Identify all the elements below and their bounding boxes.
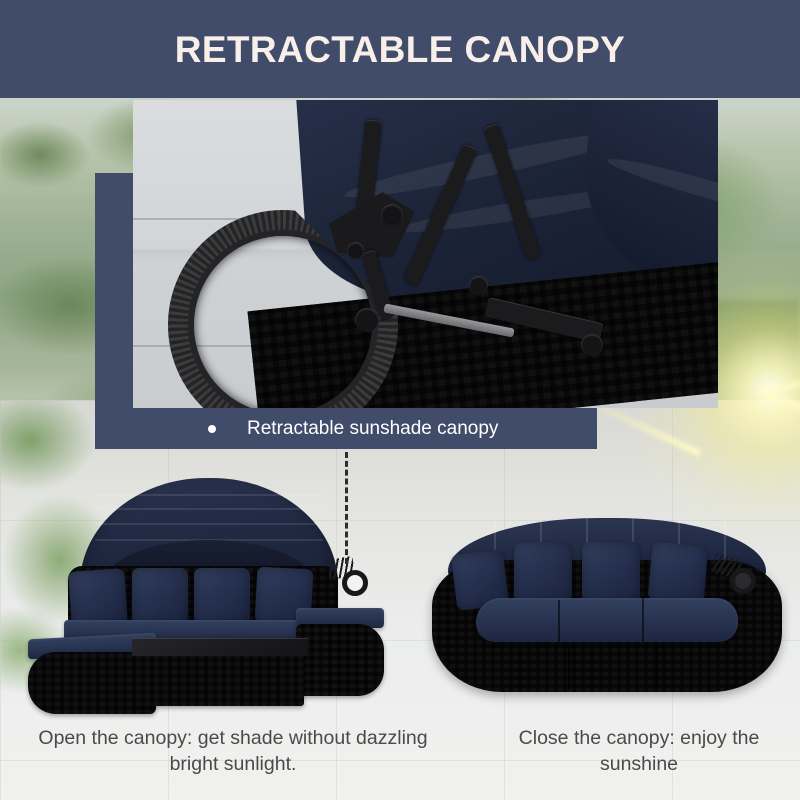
canopy-crank-handle <box>342 570 368 596</box>
fabric-fold <box>605 152 718 224</box>
daybed-mattress <box>476 598 738 642</box>
throw-pillow <box>132 568 188 624</box>
shell-seam <box>568 644 570 690</box>
shell-seam <box>656 644 658 690</box>
page-title: RETRACTABLE CANOPY <box>175 31 626 68</box>
hinge-bolt <box>469 276 488 295</box>
product-photo-closed-canopy <box>418 498 800 723</box>
throw-pillow <box>514 542 572 602</box>
pivot-joint <box>355 308 379 332</box>
header-banner: RETRACTABLE CANOPY <box>0 0 800 98</box>
throw-pillow <box>582 542 640 602</box>
hinge-bolt <box>347 242 364 259</box>
throw-pillow <box>194 568 250 624</box>
throw-pillow <box>68 568 128 628</box>
cushion-seam <box>642 598 644 642</box>
caption-closed-canopy: Close the canopy: enjoy the sunshine <box>480 726 798 777</box>
canopy-hinge-detail-photo <box>133 100 718 408</box>
coffee-table-glass-top <box>132 638 308 656</box>
dashed-pointer-line <box>345 452 348 564</box>
pivot-joint <box>581 334 603 356</box>
product-feature-image: RETRACTABLE CANOPY <box>0 0 800 800</box>
bullet-point-icon <box>208 425 216 433</box>
caption-open-canopy: Open the canopy: get shade without dazzl… <box>18 726 448 777</box>
callout-text: Retractable sunshade canopy <box>247 418 498 440</box>
throw-pillow <box>648 542 709 605</box>
cushion-seam <box>558 600 560 642</box>
canopy-crank-handle <box>730 568 756 594</box>
product-photo-open-canopy <box>28 478 418 723</box>
ottoman-right <box>296 624 384 696</box>
hinge-bolt <box>381 204 403 226</box>
callout-caption-bar: Retractable sunshade canopy <box>95 408 597 449</box>
